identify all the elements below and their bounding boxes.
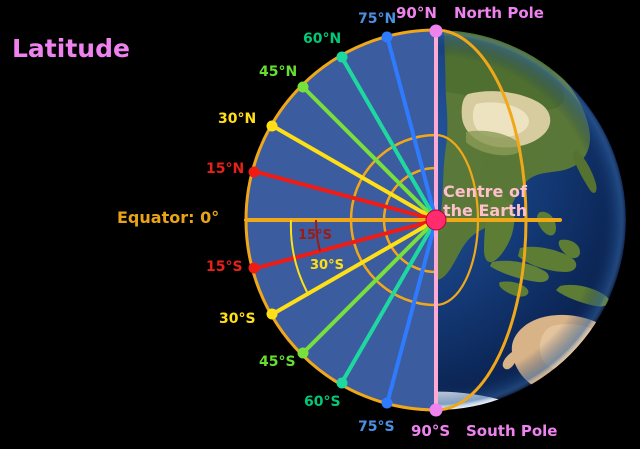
- label-30s: 30°S: [219, 312, 256, 326]
- angle-label-30s: 30°S: [310, 259, 344, 272]
- label-90s: 90°S: [411, 424, 450, 439]
- label-30n: 30°N: [218, 112, 256, 126]
- dot-90n: [430, 25, 443, 38]
- dot-75n: [382, 32, 393, 43]
- angle-label-15s: 15°S: [298, 229, 332, 242]
- dot-30s: [267, 309, 278, 320]
- dot-15n: [249, 167, 260, 178]
- dot-15s: [249, 263, 260, 274]
- latitude-diagram: Latitude 90°N North Pole 75°N 60°N 45°N …: [0, 0, 640, 449]
- label-north-pole: North Pole: [454, 6, 544, 21]
- label-15s: 15°S: [206, 260, 243, 274]
- dot-45n: [298, 82, 309, 93]
- dot-60s: [337, 378, 348, 389]
- label-60s: 60°S: [304, 395, 341, 409]
- label-90n: 90°N: [396, 6, 437, 21]
- dot-75s: [382, 398, 393, 409]
- dot-30n: [267, 121, 278, 132]
- diagram-canvas: [0, 0, 640, 449]
- label-75s: 75°S: [358, 420, 395, 434]
- dot-60n: [337, 52, 348, 63]
- dot-45s: [298, 348, 309, 359]
- label-15n: 15°N: [206, 162, 244, 176]
- dot-90s: [430, 404, 443, 417]
- label-45s: 45°S: [259, 355, 296, 369]
- label-south-pole: South Pole: [466, 424, 557, 439]
- label-45n: 45°N: [259, 65, 297, 79]
- label-75n: 75°N: [358, 12, 396, 26]
- label-equator: Equator: 0°: [117, 210, 219, 226]
- label-60n: 60°N: [303, 32, 341, 46]
- centre-of-earth-label-line1: Centre of: [443, 184, 527, 200]
- page-title: Latitude: [12, 36, 130, 61]
- centre-of-earth-label-line2: the Earth: [443, 203, 527, 219]
